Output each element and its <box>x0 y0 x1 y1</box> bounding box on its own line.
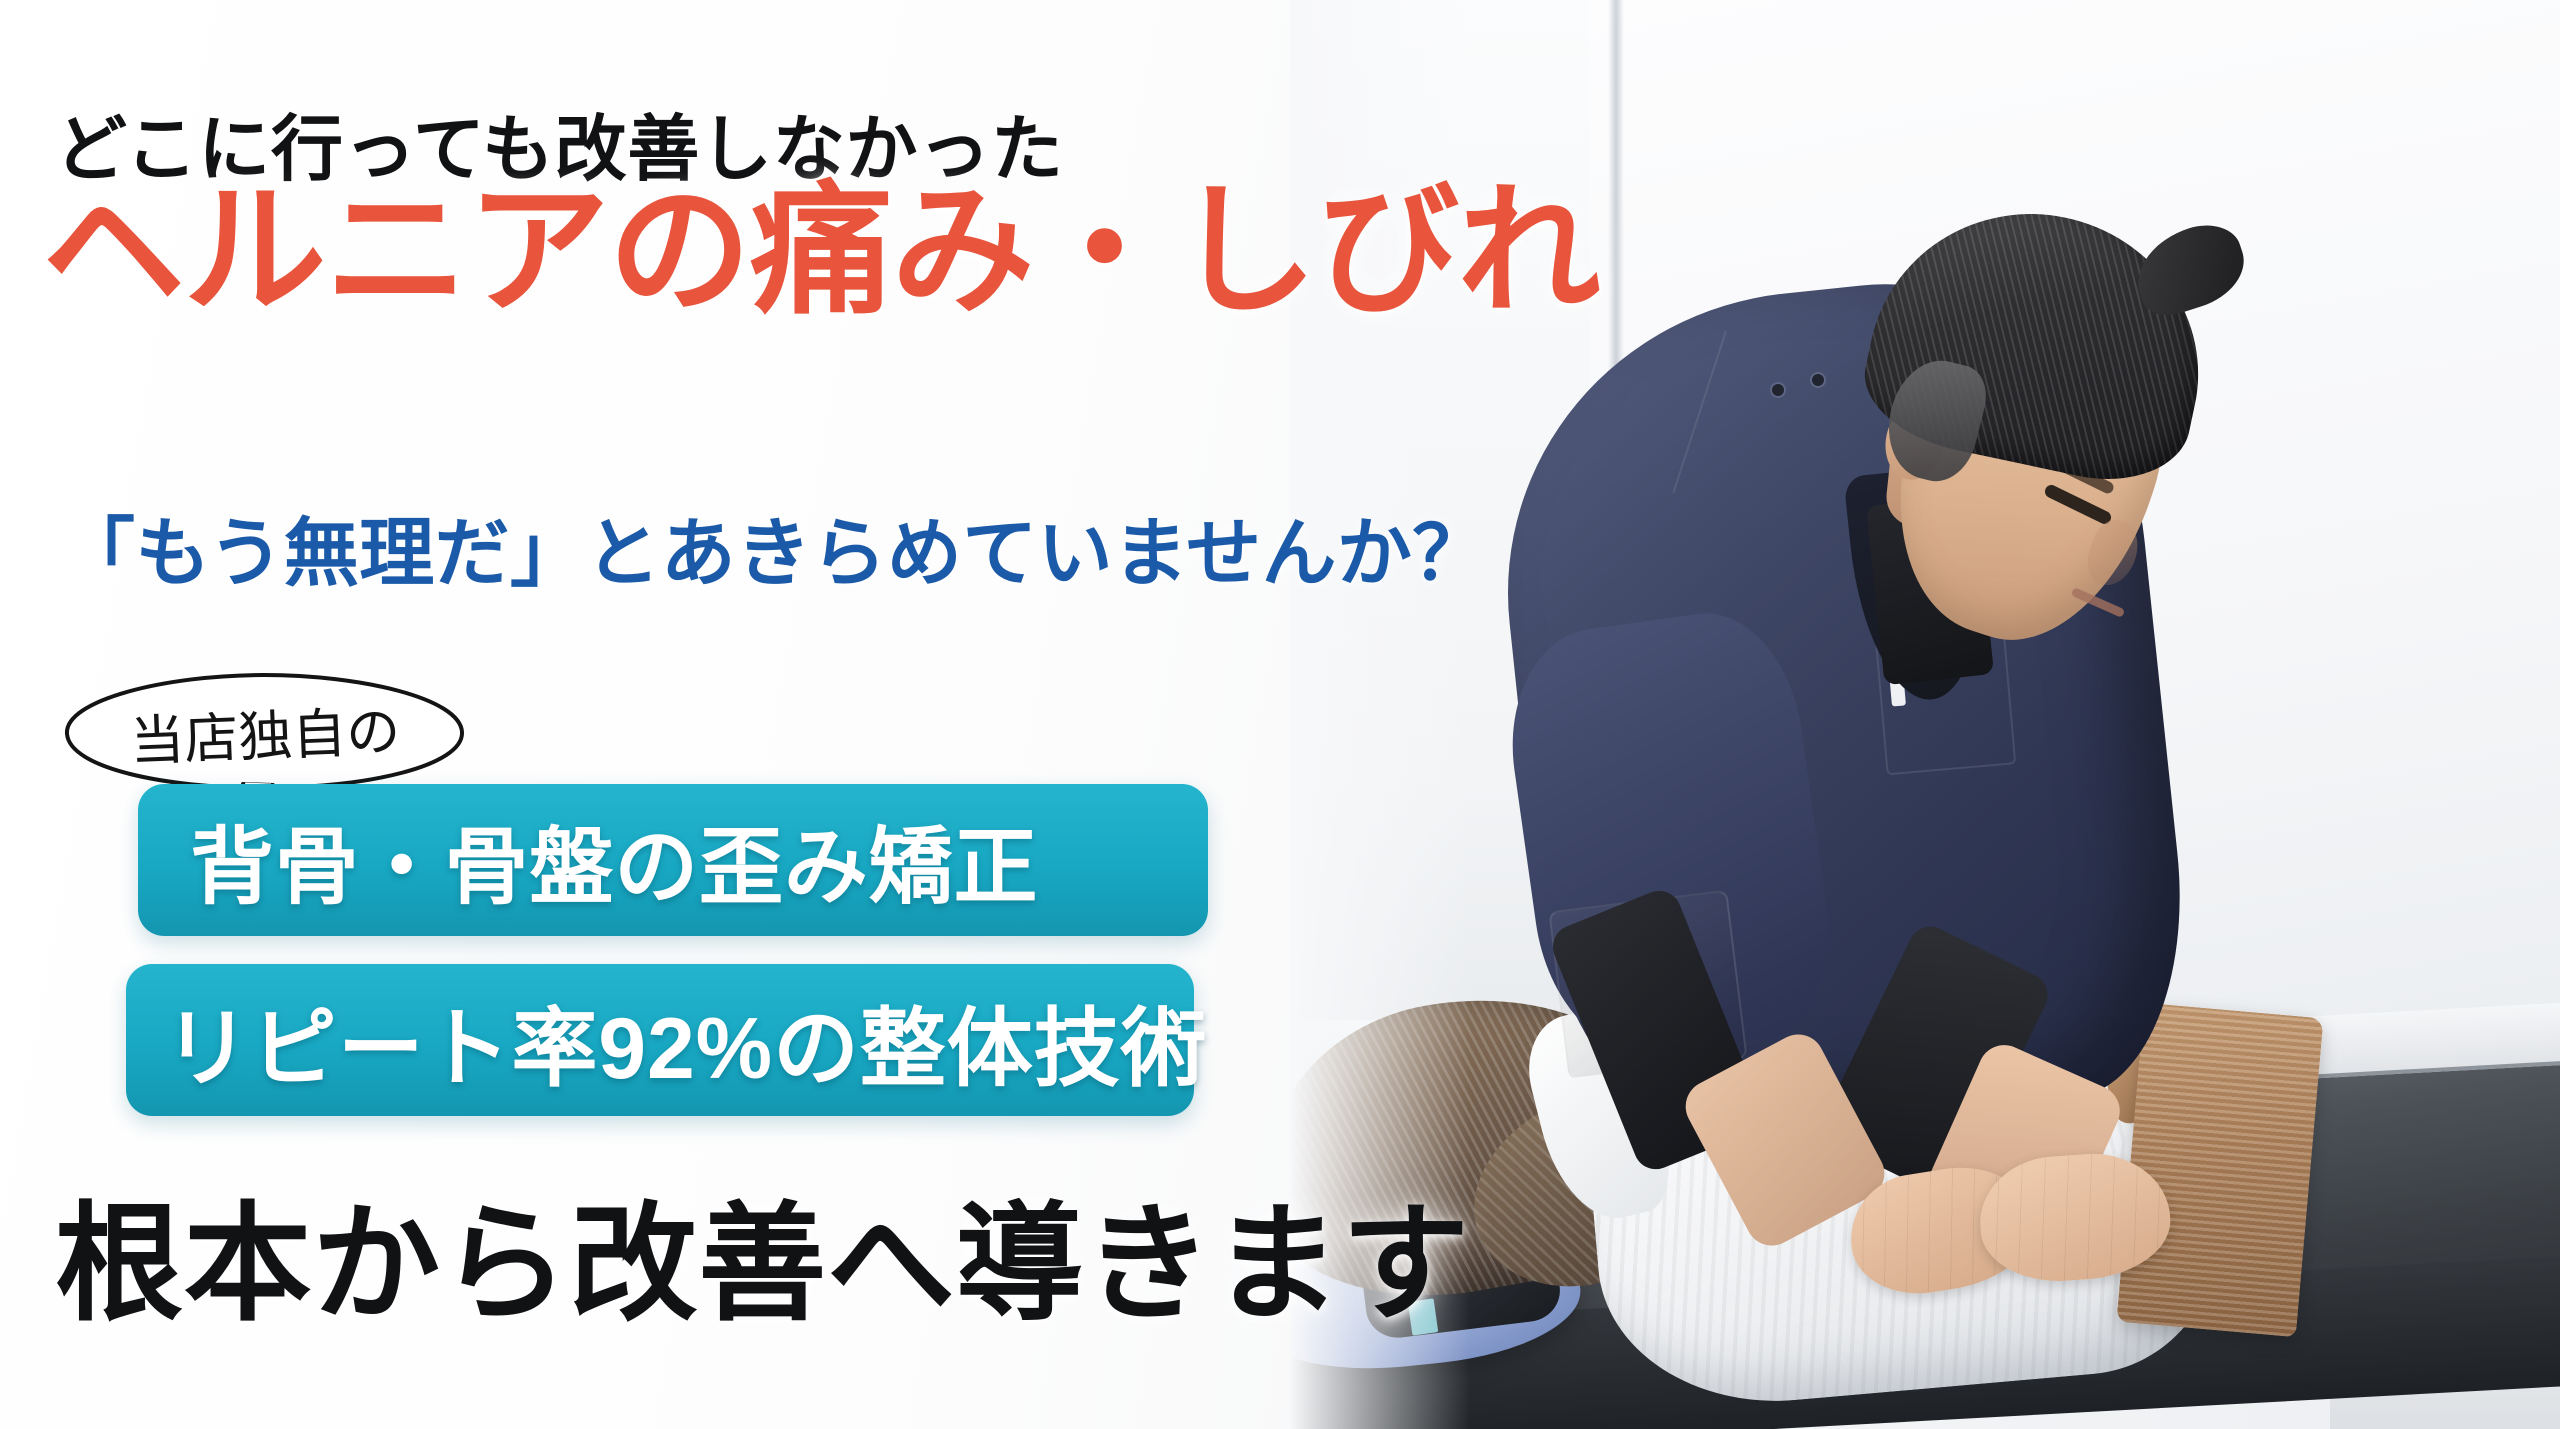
feature-badge-1: 背骨・骨盤の歪み矯正 <box>138 784 1208 936</box>
feature-badge-2: リピート率92%の整体技術 <box>126 964 1194 1116</box>
hero-banner: どこに行っても改善しなかった ヘルニアの痛み・しびれ 「もう無理だ」とあきらめて… <box>0 0 2560 1429</box>
therapist-snap-button <box>1770 382 1786 398</box>
feature-badge-1-label: 背骨・骨盤の歪み矯正 <box>138 800 1038 921</box>
subheadline-text: 「もう無理だ」とあきらめていませんか？ <box>60 492 1488 601</box>
closing-statement: 根本から改善へ導きます <box>55 1160 1470 1345</box>
banner-copy-layer: どこに行っても改善しなかった ヘルニアの痛み・しびれ 「もう無理だ」とあきらめて… <box>0 0 1700 1429</box>
speech-bubble-label: 当店独自の <box>58 664 472 798</box>
feature-badge-2-label: リピート率92%の整体技術 <box>126 978 1207 1103</box>
therapist-snap-button <box>1810 372 1826 388</box>
brown-towel <box>2116 1003 2323 1337</box>
page-title: ヘルニアの痛み・しびれ <box>42 180 1599 323</box>
